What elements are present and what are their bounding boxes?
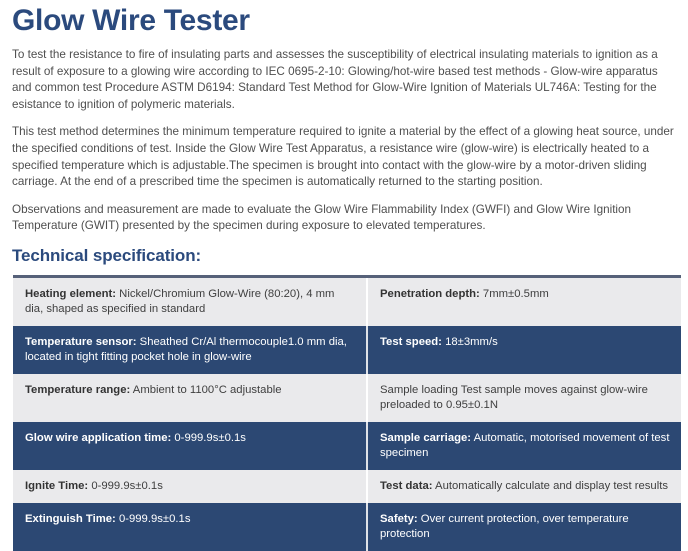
spec-value: 18±3mm/s <box>442 336 498 348</box>
table-row: Glow wire application time: 0-999.9s±0.1… <box>13 422 681 470</box>
spec-label: Sample carriage: <box>380 432 471 444</box>
section-title-technical-specification: Technical specification: <box>12 246 678 266</box>
spec-label: Temperature sensor: <box>25 336 137 348</box>
spec-label: Penetration depth: <box>380 288 480 300</box>
spec-label: Test speed: <box>380 336 442 348</box>
technical-specification-table: Heating element: Nickel/Chromium Glow-Wi… <box>13 275 681 551</box>
spec-value: 0-999.9s±0.1s <box>116 513 191 525</box>
intro-paragraph-1: To test the resistance to fire of insula… <box>12 47 678 113</box>
table-cell-left: Extinguish Time: 0-999.9s±0.1s <box>13 503 367 551</box>
table-body: Heating element: Nickel/Chromium Glow-Wi… <box>13 276 681 551</box>
table-cell-right: Test data: Automatically calculate and d… <box>367 470 681 503</box>
table-cell-right: Sample carriage: Automatic, motorised mo… <box>367 422 681 470</box>
table-cell-right: Test speed: 18±3mm/s <box>367 326 681 374</box>
table-row: Heating element: Nickel/Chromium Glow-Wi… <box>13 276 681 326</box>
spec-value: Ambient to 1100°C adjustable <box>130 384 281 396</box>
spec-label: Safety: <box>380 513 418 525</box>
spec-label: Glow wire application time: <box>25 432 171 444</box>
spec-value: Automatically calculate and display test… <box>433 480 668 492</box>
spec-label: Extinguish Time: <box>25 513 116 525</box>
table-cell-left: Heating element: Nickel/Chromium Glow-Wi… <box>13 276 367 326</box>
product-page: Glow Wire Tester To test the resistance … <box>0 4 688 551</box>
table-cell-right: Sample loading Test sample moves against… <box>367 374 681 422</box>
table-cell-left: Temperature sensor: Sheathed Cr/Al therm… <box>13 326 367 374</box>
spec-value: Over current protection, over temperatur… <box>380 513 629 540</box>
spec-label: Ignite Time: <box>25 480 88 492</box>
table-row: Extinguish Time: 0-999.9s±0.1s Safety: O… <box>13 503 681 551</box>
table-cell-right: Safety: Over current protection, over te… <box>367 503 681 551</box>
table-row: Temperature range: Ambient to 1100°C adj… <box>13 374 681 422</box>
table-cell-left: Ignite Time: 0-999.9s±0.1s <box>13 470 367 503</box>
table-cell-left: Glow wire application time: 0-999.9s±0.1… <box>13 422 367 470</box>
spec-value: 7mm±0.5mm <box>480 288 549 300</box>
spec-value: 0-999.9s±0.1s <box>171 432 246 444</box>
spec-value: 0-999.9s±0.1s <box>88 480 163 492</box>
intro-paragraph-3: Observations and measurement are made to… <box>12 202 678 235</box>
table-cell-left: Temperature range: Ambient to 1100°C adj… <box>13 374 367 422</box>
table-row: Ignite Time: 0-999.9s±0.1s Test data: Au… <box>13 470 681 503</box>
spec-label: Test data: <box>380 480 433 492</box>
spec-value: Sample loading Test sample moves against… <box>380 384 648 411</box>
spec-label: Heating element: <box>25 288 116 300</box>
spec-label: Temperature range: <box>25 384 130 396</box>
table-row: Temperature sensor: Sheathed Cr/Al therm… <box>13 326 681 374</box>
intro-paragraph-2: This test method determines the minimum … <box>12 124 678 190</box>
page-title: Glow Wire Tester <box>12 4 678 37</box>
table-cell-right: Penetration depth: 7mm±0.5mm <box>367 276 681 326</box>
